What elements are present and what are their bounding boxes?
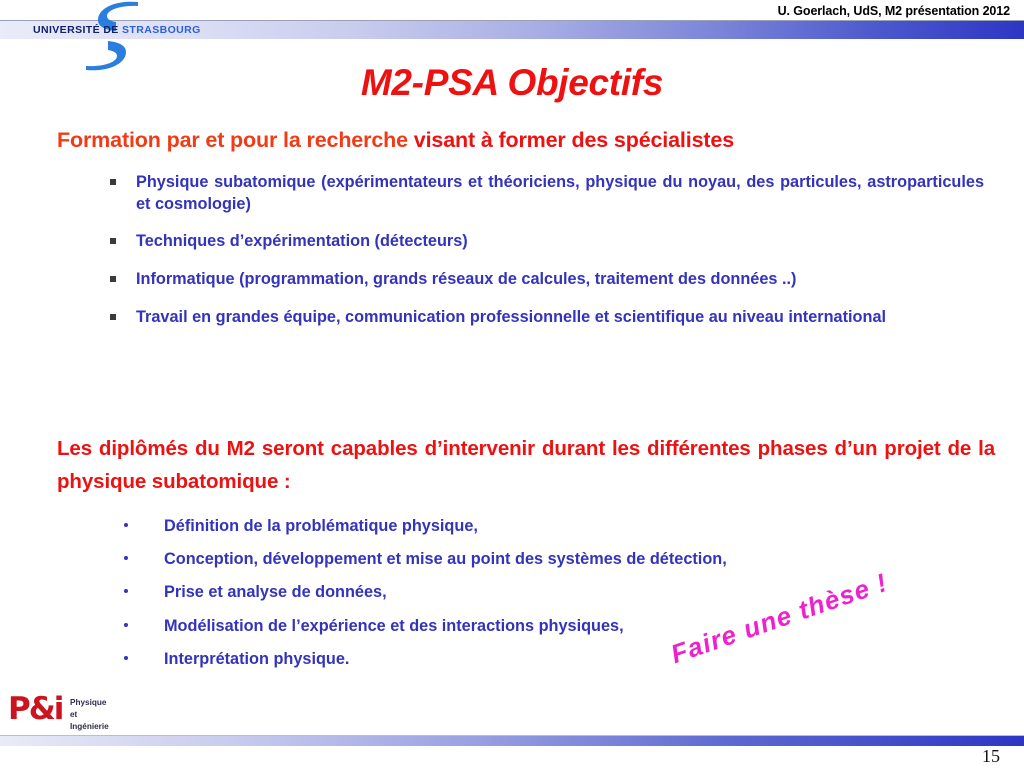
list-item-label: Techniques d’expérimentation (détecteurs… [136, 232, 468, 250]
list-item: Travail en grandes équipe, communication… [0, 307, 1024, 329]
square-bullet-icon [110, 314, 116, 320]
pi-logo-mark: P&i [8, 694, 62, 725]
footer-gradient-bar [0, 736, 1024, 746]
page-title: M2-PSA Objectifs [0, 62, 1024, 104]
list-item: Conception, développement et mise au poi… [0, 549, 1024, 570]
list-item: Informatique (programmation, grands rése… [0, 269, 1024, 291]
header-credit-text: U. Goerlach, UdS, M2 présentation 2012 [778, 4, 1010, 18]
objectives-list: Physique subatomique (expérimentateurs e… [0, 172, 1024, 344]
list-item: Modélisation de l’expérience et des inte… [0, 616, 1024, 637]
slide-header: U. Goerlach, UdS, M2 présentation 2012 U… [0, 0, 1024, 50]
pi-logo-word-2: et [70, 709, 109, 721]
list-item: Définition de la problématique physique, [0, 516, 1024, 537]
lead-heading-segment-orange: Formation par et pour la recherche [57, 128, 408, 152]
square-bullet-icon [110, 238, 116, 244]
graduates-paragraph: Les diplômés du M2 seront capables d’int… [57, 432, 995, 498]
dot-bullet-icon [124, 523, 128, 527]
list-item-label: Travail en grandes équipe, communication… [136, 308, 886, 326]
uds-wordmark: UNIVERSITÉ DE STRASBOURG [33, 24, 201, 36]
list-item-label: Interprétation physique. [164, 650, 349, 668]
pi-logo-words: Physique et Ingénierie [70, 697, 109, 733]
list-item-label: Informatique (programmation, grands rése… [136, 270, 796, 288]
dot-bullet-icon [124, 589, 128, 593]
dot-bullet-icon [124, 623, 128, 627]
list-item-label: Conception, développement et mise au poi… [164, 550, 727, 568]
list-item: Interprétation physique. [0, 649, 1024, 670]
lead-heading: Formation par et pour la recherche visan… [57, 128, 997, 153]
pi-logo-word-1: Physique [70, 697, 109, 709]
list-item-label: Définition de la problématique physique, [164, 517, 478, 535]
uds-wordmark-part2: STRASBOURG [122, 24, 201, 36]
list-item: Physique subatomique (expérimentateurs e… [0, 172, 1024, 215]
list-item-label: Physique subatomique (expérimentateurs e… [136, 173, 984, 213]
uds-wordmark-part1: UNIVERSITÉ DE [33, 24, 122, 36]
list-item-label: Prise et analyse de données, [164, 583, 387, 601]
dot-bullet-icon [124, 556, 128, 560]
square-bullet-icon [110, 276, 116, 282]
square-bullet-icon [110, 179, 116, 185]
list-item: Techniques d’expérimentation (détecteurs… [0, 231, 1024, 253]
page-number: 15 [982, 746, 1000, 767]
lead-heading-segment-red: visant à former des spécialistes [408, 128, 734, 152]
pi-logo: P&i Physique et Ingénierie [8, 694, 178, 734]
dot-bullet-icon [124, 656, 128, 660]
list-item-label: Modélisation de l’expérience et des inte… [164, 617, 624, 635]
pi-logo-word-3: Ingénierie [70, 721, 109, 733]
